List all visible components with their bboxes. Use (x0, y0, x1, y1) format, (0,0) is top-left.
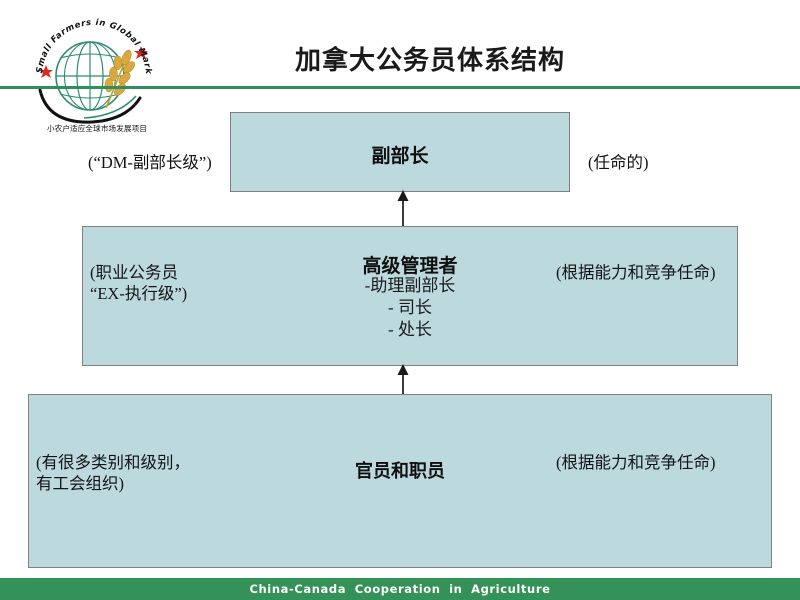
level-title-deputy-minister: 副部长 (231, 141, 569, 168)
slide-canvas: Small Farmers in Global Markets 小农户适应全球市… (0, 0, 800, 600)
level-subitem-director: - 处长 (83, 319, 737, 341)
connector-arrow-up-senior-to-dm (396, 190, 410, 228)
annotation-deputy-minister-right: (任命的) (588, 152, 758, 173)
header-divider (0, 86, 800, 89)
annotation-senior-management-right: (根据能力和竞争任命) (556, 262, 736, 283)
level-box-deputy-minister: 副部长 (230, 112, 570, 192)
footer-text: China-Canada Cooperation in Agriculture (0, 582, 800, 596)
program-logo: Small Farmers in Global Markets (22, 18, 172, 138)
annotation-senior-management-left: (职业公务员 “EX-执行级”) (90, 262, 270, 304)
annotation-deputy-minister-left: (“DM-副部长级”) (88, 152, 238, 173)
annotation-officers-and-staff-right: (根据能力和竞争任命) (556, 452, 741, 473)
connector-arrow-up-staff-to-senior (396, 364, 410, 396)
logo-caption: 小农户适应全球市场发展项目 (22, 123, 172, 134)
page-title: 加拿大公务员体系结构 (200, 40, 660, 77)
annotation-officers-and-staff-left: (有很多类别和级别， 有工会组织) (36, 452, 246, 494)
